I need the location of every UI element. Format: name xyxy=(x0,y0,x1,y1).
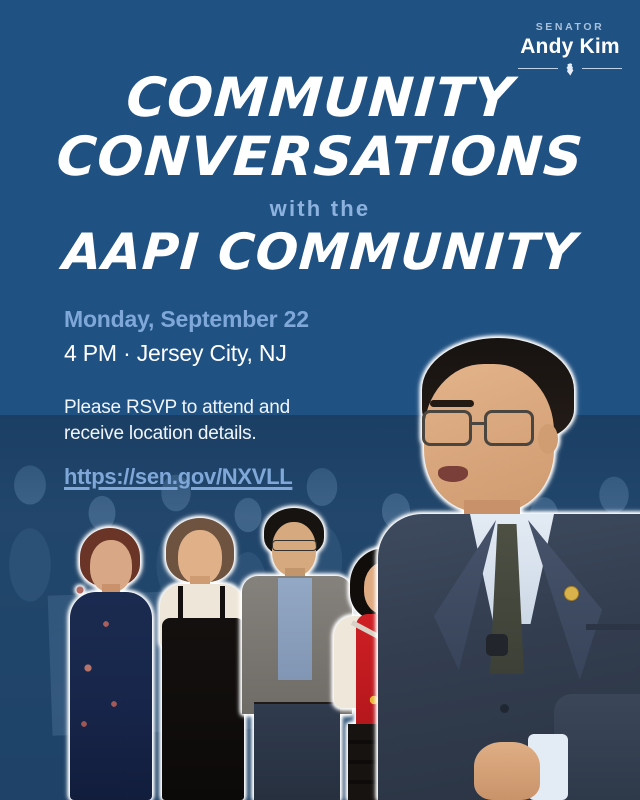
rsvp-link[interactable]: https://sen.gov/NXVLL xyxy=(64,464,292,490)
rsvp-line-2: receive location details. xyxy=(64,421,309,447)
eyebrow xyxy=(430,400,474,407)
logo-rule-right xyxy=(582,68,622,70)
new-jersey-state-icon xyxy=(565,63,576,81)
event-date: Monday, September 22 xyxy=(64,305,309,335)
senator-logo[interactable]: SENATOR Andy Kim xyxy=(518,22,622,75)
headline-line-2: Conversations xyxy=(0,131,640,184)
headline-line-1: Community xyxy=(0,72,640,125)
headline-connector: with the xyxy=(0,196,640,222)
event-time-location: 4 PM · Jersey City, NJ xyxy=(64,338,309,369)
event-details: Monday, September 22 4 PM · Jersey City,… xyxy=(64,305,309,490)
rsvp-line-1: Please RSVP to attend and xyxy=(64,395,309,421)
logo-divider xyxy=(518,63,622,75)
event-flyer: SENATOR Andy Kim Community Conversations… xyxy=(0,0,640,800)
logo-eyebrow: SENATOR xyxy=(518,22,622,33)
headline-line-3: AAPI Community xyxy=(0,228,640,277)
logo-rule-left xyxy=(518,68,558,70)
rsvp-instructions: Please RSVP to attend and receive locati… xyxy=(64,395,309,446)
headline-block: Community Conversations with the AAPI Co… xyxy=(0,72,640,277)
logo-name: Andy Kim xyxy=(518,36,622,58)
